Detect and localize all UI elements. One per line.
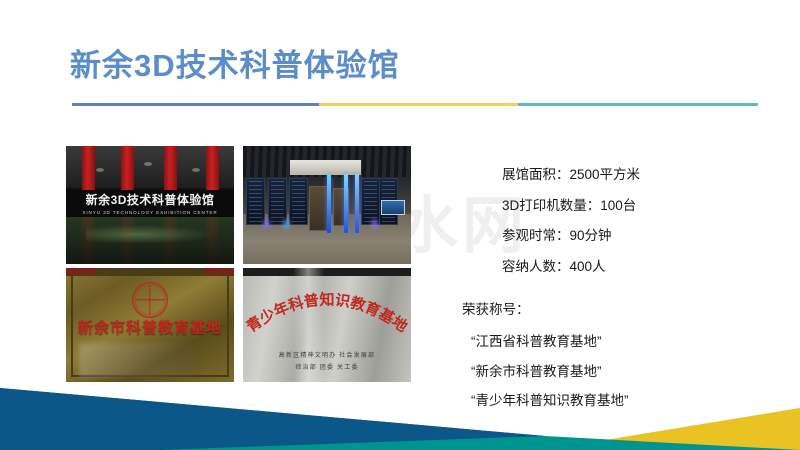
signboard-chinese-text: 新余3D技术科普体验馆: [86, 191, 215, 208]
photo-exhibition-hall: [243, 146, 411, 264]
awards-heading: 荣获称号：: [462, 298, 629, 318]
gold-plaque-text: 新余市科普教育基地: [66, 317, 234, 338]
photo-silver-plaque: 青少年科普知识教育基地 高新区精神文明办 社会发展部 综治部 团委 关工委: [243, 268, 411, 382]
award-item: “新余市科普教育基地”: [462, 365, 629, 379]
divider-segment-blue: [72, 103, 319, 106]
svg-text:青少年科普知识教育基地: 青少年科普知识教育基地: [243, 290, 411, 335]
signboard-english-text: XINYU 3D TECHNOLOGY EXHIBITION CENTER: [82, 210, 217, 215]
floor-light-glow: [263, 219, 270, 229]
wall-display-panel: [289, 178, 308, 225]
ceiling-light: [192, 168, 200, 172]
facts-list: 展馆面积：2500平方米 3D打印机数量：100台 参观时常：90分钟 容纳人数…: [462, 168, 640, 290]
title-divider: [72, 103, 758, 106]
brand-logo-text: 清软海芯: [68, 22, 152, 51]
footer-banner: [0, 378, 800, 450]
photo-gold-plaque: 新余市科普教育基地: [66, 268, 234, 382]
plaque-top-bar: [243, 268, 411, 276]
silver-plaque-arched-text: 青少年科普知识教育基地: [243, 282, 411, 339]
silver-plaque-organizations: 高新区精神文明办 社会发展部 综治部 团委 关工委: [243, 351, 411, 374]
floor-light-glow: [283, 219, 290, 229]
photo-grid: 新余3D技术科普体验馆 XINYU 3D TECHNOLOGY EXHIBITI…: [66, 146, 411, 386]
orgs-line-2: 综治部 团委 关工委: [243, 363, 411, 374]
hall-light-panel: [290, 160, 361, 175]
entrance-glass-door: [66, 217, 234, 264]
fact-item: 展馆面积：2500平方米: [502, 168, 640, 182]
photo-museum-entrance: 新余3D技术科普体验馆 XINYU 3D TECHNOLOGY EXHIBITI…: [66, 146, 234, 264]
fact-item: 容纳人数：400人: [502, 260, 640, 274]
blue-light-column: [355, 174, 359, 233]
ceiling-light: [96, 168, 104, 172]
wall-display-panel: [246, 178, 265, 225]
plaque-reflection: [79, 343, 197, 377]
divider-segment-teal: [518, 103, 758, 106]
wall-display-panel: [361, 178, 380, 225]
fact-item: 3D打印机数量：100台: [502, 199, 640, 213]
entrance-signboard: 新余3D技术科普体验馆 XINYU 3D TECHNOLOGY EXHIBITI…: [66, 190, 234, 217]
blue-light-column: [344, 174, 348, 233]
award-item: “江西省科普教育基地”: [462, 335, 629, 349]
fact-item: 参观时常：90分钟: [502, 229, 640, 243]
divider-segment-yellow: [319, 103, 518, 106]
hall-monitor: [381, 200, 405, 215]
blue-light-column: [327, 174, 331, 233]
plaque-emblem-icon: [132, 282, 168, 318]
orgs-line-1: 高新区精神文明办 社会发展部: [243, 351, 411, 362]
wall-display-panel: [268, 178, 287, 225]
ceiling-light: [144, 162, 152, 166]
floor-light-glow: [371, 219, 378, 229]
